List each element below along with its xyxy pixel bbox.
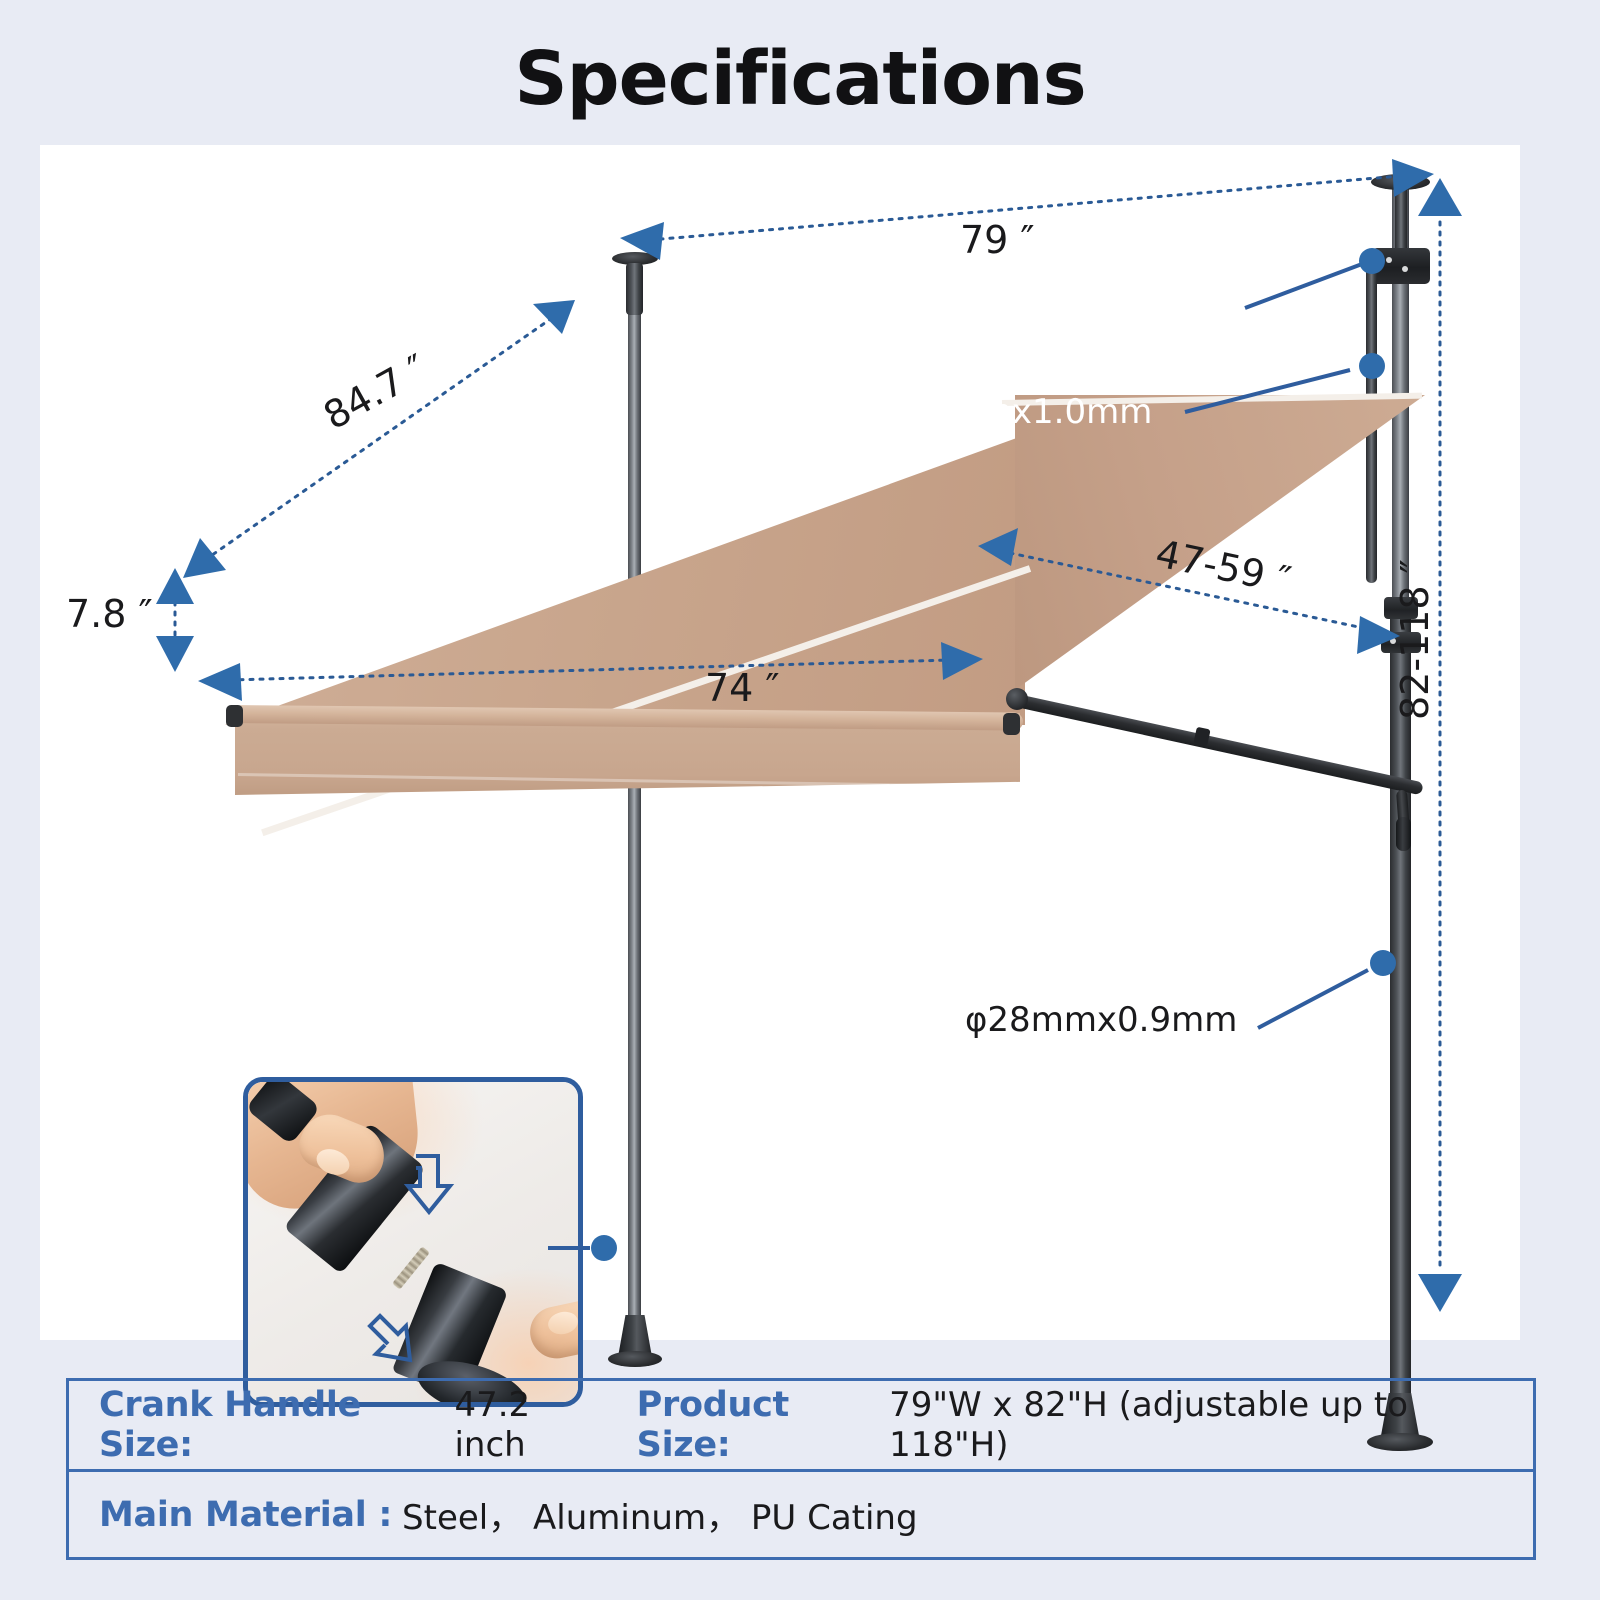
valance-drop-dimension: 7.8 ″ [66, 592, 153, 636]
arrow-up-icon [370, 1316, 410, 1360]
support-arm [1011, 693, 1424, 795]
specification-table: Crank Handle Size: 47.2 inch Product Siz… [66, 1378, 1536, 1560]
left-pole [628, 260, 641, 1350]
clamp-screw-2 [1402, 266, 1408, 272]
canopy-fabric [225, 435, 1025, 725]
roller-cap-right [1003, 713, 1020, 735]
right-pole-lower-section [1390, 605, 1411, 1405]
awning-canopy-right [1015, 395, 1425, 690]
spec-key-crank-handle-size: Crank Handle Size: [99, 1385, 444, 1465]
pole-height-dimension: 82-118 ″ [1393, 559, 1437, 720]
table-row: Crank Handle Size: 47.2 inch Product Siz… [69, 1381, 1533, 1469]
clamp-screw-1 [1386, 257, 1392, 263]
arrow-down-icon [408, 1156, 450, 1212]
left-pole-upper-sleeve [626, 263, 643, 315]
canopy-fabric-right [1015, 395, 1425, 690]
crank-handle-grip [1396, 817, 1411, 851]
callout-tube-28mm: φ28mmx0.9mm [965, 1000, 1237, 1040]
left-pole-foot-disc [608, 1351, 662, 1367]
spec-value-product-size: 79"W x 82"H (adjustable up to 118"H) [889, 1385, 1499, 1465]
table-row: Main Material : Steel， Aluminum， PU Cati… [69, 1469, 1533, 1557]
roller-cap-left [226, 705, 243, 727]
bottom-width-dimension: 74 ″ [705, 666, 780, 710]
inset-direction-arrows [248, 1082, 583, 1407]
awning-canopy-main [225, 435, 1025, 725]
spec-key-main-material: Main Material : [99, 1495, 392, 1535]
spec-key-product-size: Product Size: [637, 1385, 879, 1465]
callout-tube-25mm: φ25mmx1.0mm [880, 392, 1152, 432]
diagram-stage [40, 145, 1520, 1340]
top-width-dimension: 79 ″ [960, 218, 1035, 262]
spec-value-crank-handle-size: 47.2 inch [454, 1385, 602, 1465]
right-pole-top-clamp [1372, 248, 1430, 284]
telescoping-foot-photo [243, 1077, 583, 1407]
spec-value-main-material: Steel， Aluminum， PU Cating [402, 1490, 918, 1539]
page-title: Specifications [0, 36, 1600, 122]
specification-sheet: Specifications [0, 0, 1600, 1600]
support-arm-end-cap [1006, 688, 1028, 710]
callout-tube-38mm: φ38mmx1.0mm [965, 300, 1237, 340]
